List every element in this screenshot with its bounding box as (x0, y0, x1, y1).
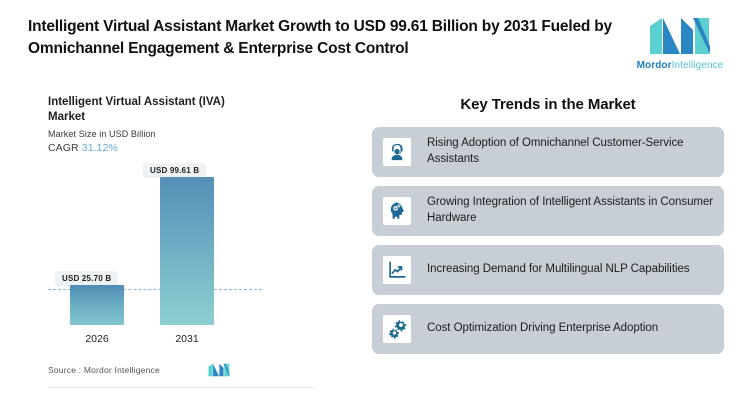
page-title: Intelligent Virtual Assistant Market Gro… (28, 14, 628, 60)
chart-cagr: CAGR 31.12% (48, 142, 330, 154)
trend-card-1[interactable]: Rising Adoption of Omnichannel Customer-… (372, 127, 724, 177)
bar-2026 (70, 285, 124, 325)
mordor-intelligence-logo-icon (649, 16, 711, 56)
x-axis-label-2031: 2031 (160, 333, 214, 345)
trend-card-3[interactable]: Increasing Demand for Multilingual NLP C… (372, 245, 724, 295)
chart-title: Intelligent Virtual Assistant (IVA) Mark… (48, 95, 263, 125)
bar-value-label-2031: USD 99.61 B (143, 163, 206, 178)
bar-2031 (160, 177, 214, 325)
head-with-gears-icon (383, 197, 411, 225)
key-trends-panel: Key Trends in the Market Rising Adoption… (372, 96, 724, 363)
x-axis-label-2026: 2026 (70, 333, 124, 345)
brand-logo-wordmark: MordorIntelligence (637, 60, 724, 71)
chart-subtitle: Market Size in USD Billion (48, 129, 330, 139)
bar-chart-plot-area: USD 25.70 B 2026 USD 99.61 B 2031 (30, 167, 330, 347)
brand-word-secondary: Intelligence (672, 60, 724, 71)
trend-card-2[interactable]: Growing Integration of Intelligent Assis… (372, 186, 724, 236)
chart-source-row: Source : Mordor Intelligence (48, 363, 313, 377)
gears-icon (383, 315, 411, 343)
trend-label-2: Growing Integration of Intelligent Assis… (427, 195, 714, 227)
trend-label-1: Rising Adoption of Omnichannel Customer-… (427, 136, 714, 168)
chart-panel-divider (48, 387, 314, 388)
cagr-value: 31.12% (82, 142, 118, 154)
line-chart-up-icon (383, 256, 411, 284)
brand-logo: MordorIntelligence (628, 14, 732, 71)
chart-source-text: Source : Mordor Intelligence (48, 365, 160, 375)
mordor-intelligence-logo-icon (208, 363, 230, 377)
key-trends-heading: Key Trends in the Market (372, 96, 724, 113)
bar-value-label-2026: USD 25.70 B (55, 271, 118, 286)
market-size-chart-panel: Intelligent Virtual Assistant (IVA) Mark… (30, 95, 330, 395)
cagr-label: CAGR (48, 142, 79, 154)
trend-card-4[interactable]: Cost Optimization Driving Enterprise Ado… (372, 304, 724, 354)
trend-label-4: Cost Optimization Driving Enterprise Ado… (427, 321, 658, 337)
trend-label-3: Increasing Demand for Multilingual NLP C… (427, 262, 690, 278)
headset-support-agent-icon (383, 138, 411, 166)
page-header: Intelligent Virtual Assistant Market Gro… (0, 0, 750, 82)
brand-word-primary: Mordor (637, 60, 672, 71)
